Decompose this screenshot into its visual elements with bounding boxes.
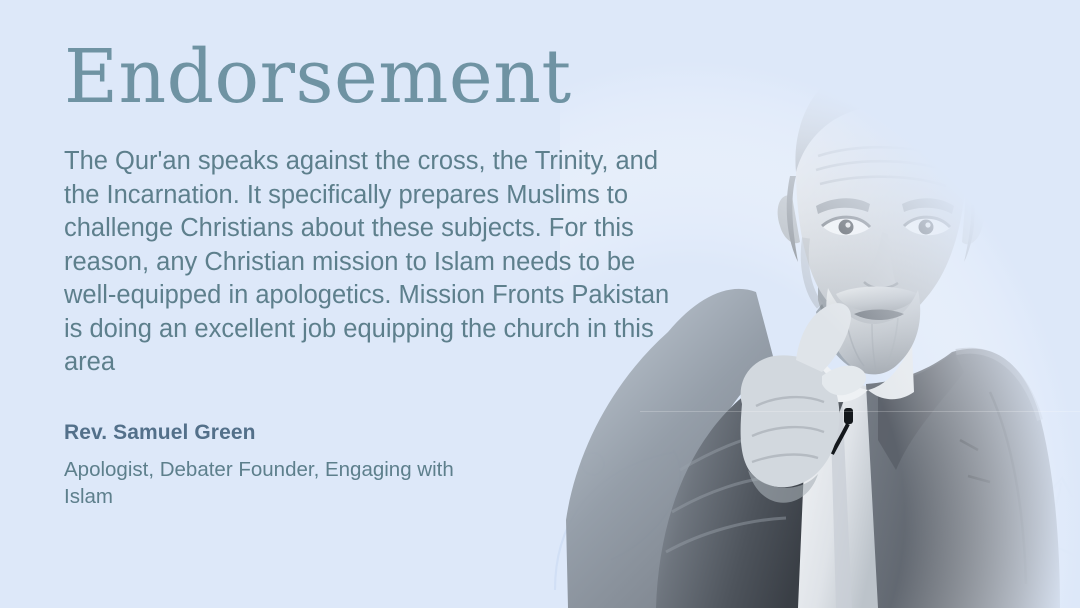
endorsement-slide: Endorsement The Qur'an speaks against th…	[0, 0, 1080, 608]
attribution: Rev. Samuel Green Apologist, Debater Fou…	[64, 380, 684, 510]
attribution-name: Rev. Samuel Green	[64, 421, 684, 444]
page-title: Endorsement	[64, 0, 684, 114]
attribution-role: Apologist, Debater Founder, Engaging wit…	[64, 444, 484, 510]
endorsement-quote: The Qur'an speaks against the cross, the…	[64, 114, 674, 380]
text-content: Endorsement The Qur'an speaks against th…	[64, 0, 684, 510]
